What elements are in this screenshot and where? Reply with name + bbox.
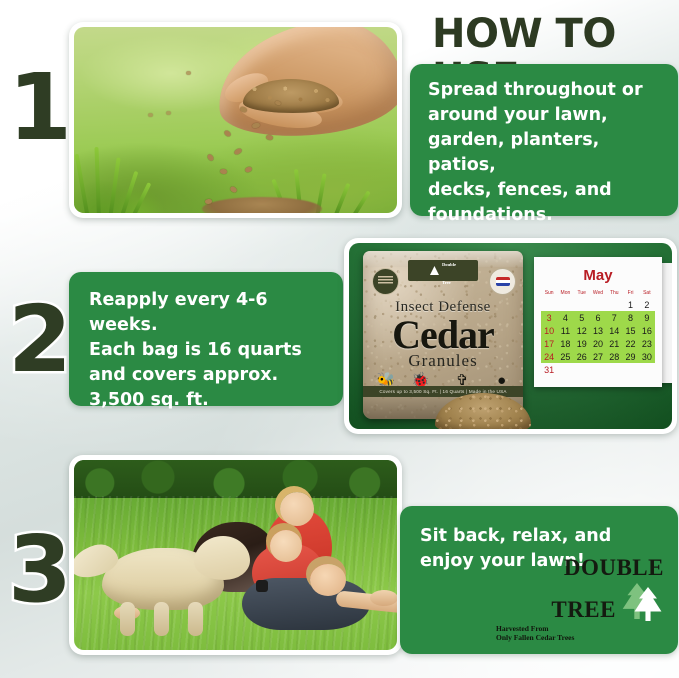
weekday-wed: Wed	[590, 289, 606, 298]
dog-head	[194, 536, 250, 580]
calendar-day: 18	[557, 337, 573, 350]
step-1-line-5: foundations.	[428, 203, 660, 228]
calendar-week-row: 3 4 5 6 7 8 9	[541, 311, 655, 324]
calendar-day	[557, 298, 573, 311]
calendar-day: 12	[574, 324, 590, 337]
step-2-line-4: 3,500 sq. ft.	[89, 388, 323, 413]
grass-tuft-left	[74, 141, 178, 213]
calendar-day: 14	[606, 324, 622, 337]
calendar-day: 10	[541, 324, 557, 337]
calendar-day: 25	[557, 350, 573, 363]
weekday-sat: Sat	[639, 289, 655, 298]
step-1-line-4: decks, fences, and	[428, 178, 660, 203]
calendar-day: 22	[622, 337, 638, 350]
step-1-line-3: garden, planters, patios,	[428, 128, 660, 178]
calendar-day: 19	[574, 337, 590, 350]
granule-heap-pile	[435, 393, 531, 429]
calendar-day: 11	[557, 324, 573, 337]
calendar-week-row: 1 2	[541, 298, 655, 311]
calendar-day: 2	[639, 298, 655, 311]
calendar-month-label: May	[541, 267, 655, 284]
step-3-text-panel: Sit back, relax, and enjoy your lawn! DO…	[400, 506, 678, 654]
calendar-day: 9	[639, 311, 655, 324]
bag-brand-line-1: Double	[442, 262, 456, 267]
weekday-thu: Thu	[606, 289, 622, 298]
brand-logo: DOUBLE TREE Harvested From Only Fallen C…	[494, 556, 664, 642]
dog-figure	[102, 548, 224, 610]
photo-hand-spreading-granules	[74, 27, 397, 213]
step-2-line-2: Each bag is 16 quarts	[89, 338, 323, 363]
dog-leg	[120, 602, 135, 636]
weekday-tue: Tue	[574, 289, 590, 298]
step-3-line-1: Sit back, relax, and	[420, 524, 658, 549]
step-1-line-2: around your lawn,	[428, 103, 660, 128]
infographic-canvas: HOW TO USE 1 2 3	[0, 0, 679, 678]
step-number-1: 1	[8, 62, 70, 154]
calendar-day: 23	[639, 337, 655, 350]
bag-brand-plate: Double Tree	[408, 260, 478, 281]
calendar-day: 7	[606, 311, 622, 324]
bare-foot-right	[370, 590, 397, 606]
calendar-day	[590, 363, 606, 376]
calendar-day: 4	[557, 311, 573, 324]
calendar-day: 5	[574, 311, 590, 324]
step-number-3: 3	[8, 524, 70, 616]
calendar-grid: Sun Mon Tue Wed Thu Fri Sat	[541, 289, 655, 376]
granules-in-hand	[243, 79, 339, 113]
badge-seal-icon	[372, 268, 399, 295]
calendar-day: 15	[622, 324, 638, 337]
calendar-weekday-row: Sun Mon Tue Wed Thu Fri Sat	[541, 289, 655, 298]
calendar-day: 16	[639, 324, 655, 337]
calendar-day: 6	[590, 311, 606, 324]
calendar-day	[606, 363, 622, 376]
step-3-photo-card	[69, 455, 402, 655]
calendar-day: 17	[541, 337, 557, 350]
weekday-fri: Fri	[622, 289, 638, 298]
made-in-usa-flag-seal-icon	[489, 268, 516, 295]
weekday-sun: Sun	[541, 289, 557, 298]
logo-tagline-line-1: Harvested From	[496, 624, 664, 633]
bag-brand-line-2: Tree	[442, 280, 451, 285]
logo-tagline-line-2: Only Fallen Cedar Trees	[496, 633, 664, 642]
calendar-week-row: 24 25 26 27 28 29 30	[541, 350, 655, 363]
calendar-day	[574, 298, 590, 311]
logo-word-line-1: DOUBLE	[494, 556, 664, 579]
calendar-week-row: 10 11 12 13 14 15 16	[541, 324, 655, 337]
step-number-2: 2	[8, 294, 70, 386]
calendar-day: 13	[590, 324, 606, 337]
calendar-day	[590, 298, 606, 311]
dog-leg	[188, 602, 203, 636]
photo-family-with-dog	[74, 460, 397, 650]
calendar-week-row: 17 18 19 20 21 22 23	[541, 337, 655, 350]
calendar-day	[574, 363, 590, 376]
calendar-day: 28	[606, 350, 622, 363]
dog-leg	[154, 602, 169, 636]
calendar-day: 30	[639, 350, 655, 363]
wall-calendar: May Sun Mon Tue Wed Thu Fri Sat	[534, 257, 662, 387]
calendar-day: 3	[541, 311, 557, 324]
bag-subtitle: Granules	[363, 351, 523, 371]
calendar-day	[622, 363, 638, 376]
calendar-day: 21	[606, 337, 622, 350]
step-1-text-panel: Spread throughout or around your lawn, g…	[410, 64, 678, 216]
calendar-day: 29	[622, 350, 638, 363]
weekday-mon: Mon	[557, 289, 573, 298]
calendar-day	[541, 298, 557, 311]
tree-icon	[430, 266, 439, 275]
step-2-line-1: Reapply every 4-6 weeks.	[89, 288, 323, 338]
wristwatch-icon	[256, 580, 268, 592]
calendar-day: 8	[622, 311, 638, 324]
step-1-photo-card	[69, 22, 402, 218]
step-2-line-3: and covers approx.	[89, 363, 323, 388]
step-2-text-panel: Reapply every 4-6 weeks. Each bag is 16 …	[69, 272, 343, 406]
double-tree-icon	[620, 579, 664, 621]
calendar-day	[557, 363, 573, 376]
calendar-day: 31	[541, 363, 557, 376]
photo-bag-and-calendar: Double Tree Insect Defense Cedar Granule…	[349, 243, 672, 429]
calendar-day: 24	[541, 350, 557, 363]
step-1-line-1: Spread throughout or	[428, 78, 660, 103]
step-2-photo-card: Double Tree Insect Defense Cedar Granule…	[344, 238, 677, 434]
calendar-day: 26	[574, 350, 590, 363]
boy-head	[270, 530, 302, 562]
calendar-day: 27	[590, 350, 606, 363]
calendar-day	[606, 298, 622, 311]
calendar-day	[639, 363, 655, 376]
toddler-head	[280, 492, 314, 526]
calendar-week-row: 31	[541, 363, 655, 376]
logo-word-line-2: TREE	[551, 598, 616, 621]
hedge-row	[74, 460, 397, 498]
calendar-day: 20	[590, 337, 606, 350]
calendar-day: 1	[622, 298, 638, 311]
